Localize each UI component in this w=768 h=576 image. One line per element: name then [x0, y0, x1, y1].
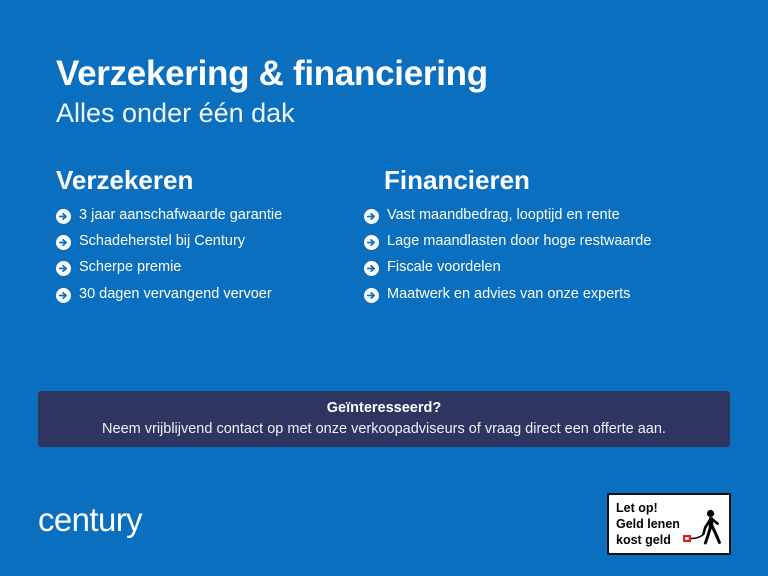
page-subtitle: Alles onder één dak — [56, 98, 716, 129]
warning-line-3: kost geld — [616, 532, 680, 548]
list-item-label: Fiscale voordelen — [387, 259, 501, 276]
list-item: Scherpe premie — [56, 259, 342, 276]
arrow-right-circle-icon — [56, 209, 71, 224]
century-logo: century — [38, 503, 142, 536]
header: Verzekering & financiering Alles onder é… — [56, 55, 716, 129]
bullet-list-financieren: Vast maandbedrag, looptijd en rente Lage… — [364, 207, 768, 304]
arrow-right-circle-icon — [364, 261, 379, 276]
list-item: Maatwerk en advies van onze experts — [364, 286, 768, 303]
list-item: Fiscale voordelen — [364, 259, 768, 276]
page-title: Verzekering & financiering — [56, 55, 716, 93]
list-item: 3 jaar aanschafwaarde garantie — [56, 207, 342, 224]
feature-columns: Verzekeren 3 jaar aanschafwaarde garanti… — [0, 166, 768, 312]
column-heading-verzekeren: Verzekeren — [56, 166, 342, 195]
column-heading-financieren: Financieren — [364, 166, 768, 195]
column-verzekeren: Verzekeren 3 jaar aanschafwaarde garanti… — [0, 166, 342, 312]
list-item-label: Schadeherstel bij Century — [79, 233, 245, 250]
list-item-label: Maatwerk en advies van onze experts — [387, 286, 630, 303]
cta-title: Geïnteresseerd? — [327, 400, 441, 417]
list-item-label: Scherpe premie — [79, 259, 181, 276]
list-item: Schadeherstel bij Century — [56, 233, 342, 250]
cta-banner[interactable]: Geïnteresseerd? Neem vrijblijvend contac… — [38, 391, 730, 447]
bullet-list-verzekeren: 3 jaar aanschafwaarde garantie Schadeher… — [56, 207, 342, 304]
column-financieren: Financieren Vast maandbedrag, looptijd e… — [342, 166, 768, 312]
list-item: Vast maandbedrag, looptijd en rente — [364, 207, 768, 224]
person-pulling-weight-icon — [681, 505, 725, 549]
cta-text: Neem vrijblijvend contact op met onze ve… — [102, 421, 666, 438]
warning-line-1: Let op! — [616, 500, 680, 516]
list-item: 30 dagen vervangend vervoer — [56, 286, 342, 303]
credit-warning-badge: Let op! Geld lenen kost geld — [607, 493, 731, 555]
list-item-label: Lage maandlasten door hoge restwaarde — [387, 233, 651, 250]
arrow-right-circle-icon — [56, 235, 71, 250]
warning-line-2: Geld lenen — [616, 516, 680, 532]
list-item-label: 30 dagen vervangend vervoer — [79, 286, 272, 303]
list-item: Lage maandlasten door hoge restwaarde — [364, 233, 768, 250]
arrow-right-circle-icon — [56, 261, 71, 276]
arrow-right-circle-icon — [364, 288, 379, 303]
list-item-label: Vast maandbedrag, looptijd en rente — [387, 207, 620, 224]
arrow-right-circle-icon — [364, 235, 379, 250]
warning-text-block: Let op! Geld lenen kost geld — [616, 500, 680, 548]
slide-root: Verzekering & financiering Alles onder é… — [0, 0, 768, 576]
arrow-right-circle-icon — [364, 209, 379, 224]
list-item-label: 3 jaar aanschafwaarde garantie — [79, 207, 282, 224]
arrow-right-circle-icon — [56, 288, 71, 303]
